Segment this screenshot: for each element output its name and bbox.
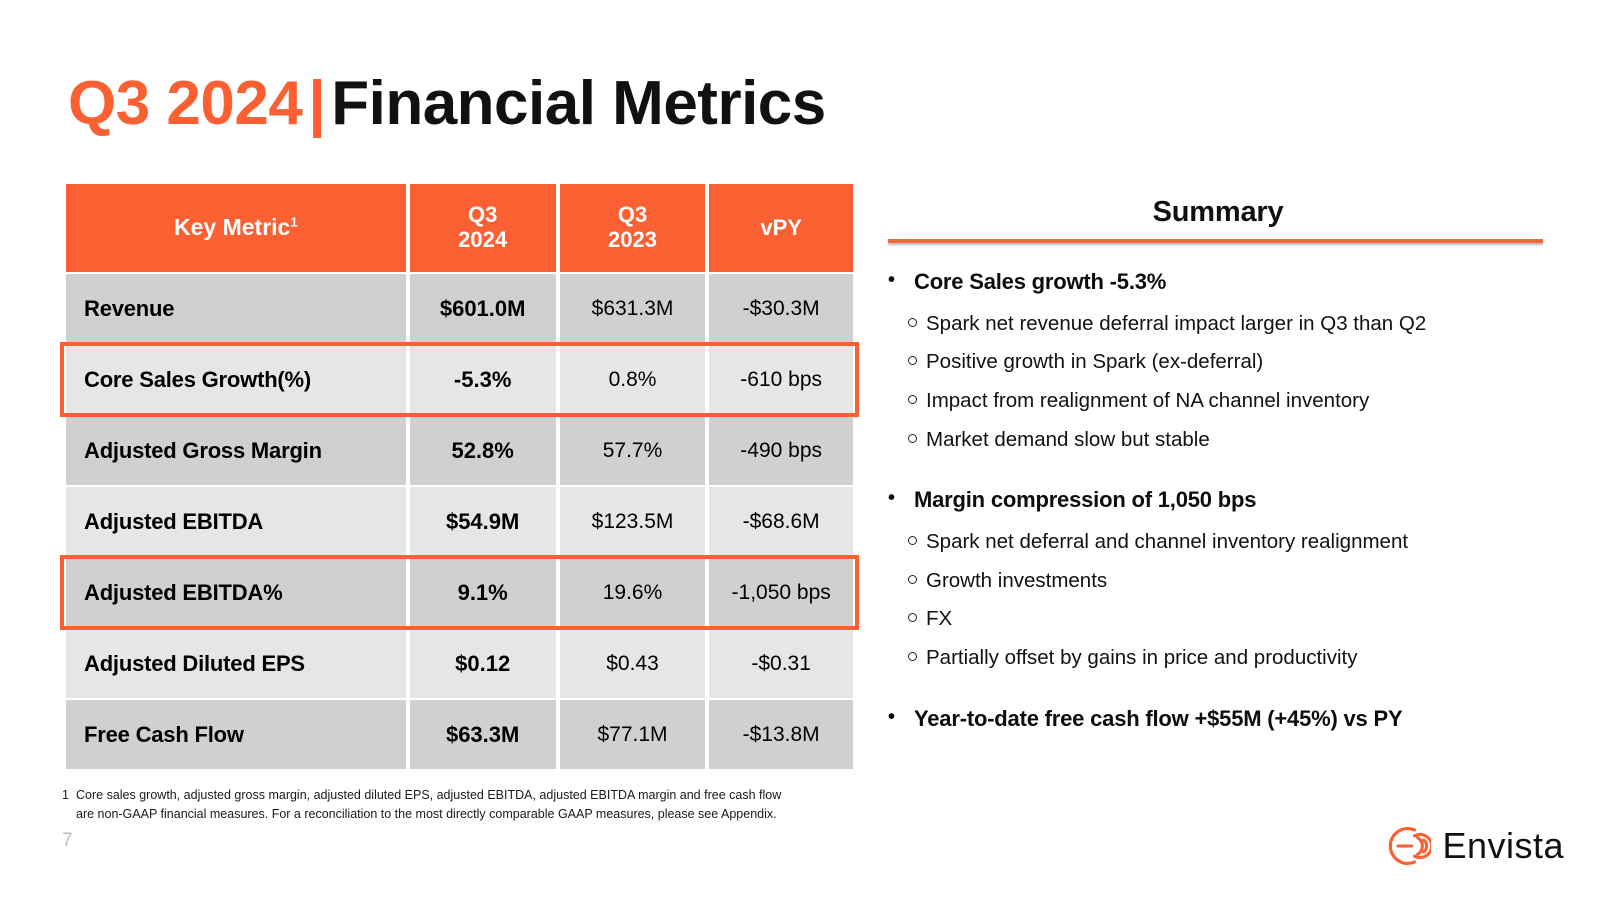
cell-vpy: -610 bps — [709, 345, 853, 414]
summary-group: •Core Sales growth -5.3%Spark net revenu… — [888, 267, 1548, 459]
cell-q3-2023: $123.5M — [560, 487, 706, 556]
cell-metric-name: Adjusted Gross Margin — [66, 416, 406, 485]
slide: Q3 2024|Financial Metrics Key Metric1 Q3… — [0, 0, 1600, 900]
summary-sub-text: FX — [926, 606, 1548, 633]
title-accent: Q3 2024 — [68, 69, 302, 138]
summary-sub-list: Spark net revenue deferral impact larger… — [888, 305, 1548, 460]
summary-group: •Margin compression of 1,050 bpsSpark ne… — [888, 485, 1548, 677]
summary-sub-item: Spark net deferral and channel inventory… — [888, 523, 1548, 562]
cell-metric-name: Revenue — [66, 274, 406, 343]
cell-q3-2024: $601.0M — [410, 274, 556, 343]
envista-wordmark: Envista — [1442, 828, 1564, 864]
hollow-circle-bullet-icon — [888, 529, 926, 545]
summary-sub-item: Market demand slow but stable — [888, 421, 1548, 460]
column-header-q3-2024-line2: 2024 — [458, 227, 507, 252]
table-row: Core Sales Growth(%)-5.3%0.8%-610 bps — [66, 345, 853, 414]
cell-vpy: -$13.8M — [709, 700, 853, 769]
key-metrics-table: Key Metric1 Q32024 Q32023 vPY Revenue$60… — [62, 182, 857, 771]
cell-q3-2023: $77.1M — [560, 700, 706, 769]
cell-q3-2023: $631.3M — [560, 274, 706, 343]
page-title: Q3 2024|Financial Metrics — [68, 68, 826, 139]
cell-q3-2024: 52.8% — [410, 416, 556, 485]
column-header-vpy: vPY — [709, 184, 853, 272]
column-header-q3-2024-line1: Q3 — [468, 202, 497, 227]
summary-sub-text: Spark net revenue deferral impact larger… — [926, 311, 1548, 338]
cell-q3-2023: 57.7% — [560, 416, 706, 485]
bullet-dot-icon: • — [888, 704, 914, 730]
column-header-q3-2023-line1: Q3 — [618, 202, 647, 227]
footnote-number: 1 — [62, 786, 76, 805]
cell-vpy: -$68.6M — [709, 487, 853, 556]
summary-sub-text: Growth investments — [926, 568, 1548, 595]
column-header-key-metric-label: Key Metric — [174, 214, 290, 240]
summary-lead-bullet: •Core Sales growth -5.3% — [888, 267, 1548, 297]
title-rest: Financial Metrics — [331, 69, 826, 138]
summary-divider — [888, 239, 1543, 243]
footnote-line-1: 1 Core sales growth, adjusted gross marg… — [62, 786, 862, 805]
table-header-row: Key Metric1 Q32024 Q32023 vPY — [66, 184, 853, 272]
cell-vpy: -490 bps — [709, 416, 853, 485]
footnote-text-line-2: are non-GAAP financial measures. For a r… — [76, 805, 862, 824]
cell-q3-2023: 0.8% — [560, 345, 706, 414]
envista-logo: Envista — [1387, 824, 1564, 868]
summary-sub-text: Partially offset by gains in price and p… — [926, 645, 1548, 672]
hollow-circle-bullet-icon — [888, 311, 926, 327]
footnote-text-line-1: Core sales growth, adjusted gross margin… — [76, 786, 862, 805]
summary-lead-bullet: •Year-to-date free cash flow +$55M (+45%… — [888, 704, 1548, 734]
cell-metric-name: Adjusted Diluted EPS — [66, 629, 406, 698]
title-separator: | — [302, 69, 331, 138]
column-header-q3-2024: Q32024 — [410, 184, 556, 272]
bullet-dot-icon: • — [888, 267, 914, 293]
summary-sub-item: Growth investments — [888, 562, 1548, 601]
cell-vpy: -$30.3M — [709, 274, 853, 343]
summary-groups: •Core Sales growth -5.3%Spark net revenu… — [888, 267, 1548, 733]
column-header-q3-2023: Q32023 — [560, 184, 706, 272]
table-row: Adjusted EBITDA%9.1%19.6%-1,050 bps — [66, 558, 853, 627]
table-row: Free Cash Flow$63.3M$77.1M-$13.8M — [66, 700, 853, 769]
bullet-dot-icon: • — [888, 485, 914, 511]
table-row: Adjusted Diluted EPS$0.12$0.43-$0.31 — [66, 629, 853, 698]
summary-sub-item: Impact from realignment of NA channel in… — [888, 382, 1548, 421]
cell-q3-2024: -5.3% — [410, 345, 556, 414]
hollow-circle-bullet-icon — [888, 568, 926, 584]
cell-metric-name: Core Sales Growth(%) — [66, 345, 406, 414]
summary-sub-item: FX — [888, 600, 1548, 639]
footnote-line-2: are non-GAAP financial measures. For a r… — [62, 805, 862, 824]
envista-logo-icon — [1387, 824, 1431, 868]
summary-sub-list: Spark net deferral and channel inventory… — [888, 523, 1548, 678]
summary-sub-text: Market demand slow but stable — [926, 427, 1548, 454]
column-header-q3-2023-line2: 2023 — [608, 227, 657, 252]
summary-lead-text: Year-to-date free cash flow +$55M (+45%)… — [914, 704, 1402, 734]
table-header: Key Metric1 Q32024 Q32023 vPY — [66, 184, 853, 272]
summary-lead-bullet: •Margin compression of 1,050 bps — [888, 485, 1548, 515]
hollow-circle-bullet-icon — [888, 427, 926, 443]
table-row: Adjusted EBITDA$54.9M$123.5M-$68.6M — [66, 487, 853, 556]
cell-vpy: -1,050 bps — [709, 558, 853, 627]
cell-vpy: -$0.31 — [709, 629, 853, 698]
summary-group: •Year-to-date free cash flow +$55M (+45%… — [888, 704, 1548, 734]
summary-sub-text: Spark net deferral and channel inventory… — [926, 529, 1548, 556]
footnote: 1 Core sales growth, adjusted gross marg… — [62, 786, 862, 825]
cell-q3-2024: $63.3M — [410, 700, 556, 769]
summary-lead-text: Margin compression of 1,050 bps — [914, 485, 1256, 515]
summary-sub-item: Partially offset by gains in price and p… — [888, 639, 1548, 678]
column-header-key-metric: Key Metric1 — [66, 184, 406, 272]
page-number: 7 — [62, 830, 73, 852]
cell-q3-2023: $0.43 — [560, 629, 706, 698]
cell-q3-2024: $0.12 — [410, 629, 556, 698]
hollow-circle-bullet-icon — [888, 606, 926, 622]
hollow-circle-bullet-icon — [888, 349, 926, 365]
cell-metric-name: Adjusted EBITDA — [66, 487, 406, 556]
summary-sub-text: Positive growth in Spark (ex-deferral) — [926, 349, 1548, 376]
cell-metric-name: Free Cash Flow — [66, 700, 406, 769]
cell-q3-2024: $54.9M — [410, 487, 556, 556]
cell-metric-name: Adjusted EBITDA% — [66, 558, 406, 627]
cell-q3-2023: 19.6% — [560, 558, 706, 627]
summary-sub-item: Spark net revenue deferral impact larger… — [888, 305, 1548, 344]
summary-title: Summary — [888, 196, 1548, 229]
summary-sub-text: Impact from realignment of NA channel in… — [926, 388, 1548, 415]
summary-lead-text: Core Sales growth -5.3% — [914, 267, 1166, 297]
footnote-number-spacer — [62, 805, 76, 824]
table-row: Revenue$601.0M$631.3M-$30.3M — [66, 274, 853, 343]
footnote-marker: 1 — [290, 214, 297, 229]
summary-panel: Summary •Core Sales growth -5.3%Spark ne… — [888, 196, 1548, 733]
table-row: Adjusted Gross Margin52.8%57.7%-490 bps — [66, 416, 853, 485]
hollow-circle-bullet-icon — [888, 388, 926, 404]
cell-q3-2024: 9.1% — [410, 558, 556, 627]
table-body: Revenue$601.0M$631.3M-$30.3MCore Sales G… — [66, 274, 853, 769]
hollow-circle-bullet-icon — [888, 645, 926, 661]
summary-sub-item: Positive growth in Spark (ex-deferral) — [888, 343, 1548, 382]
